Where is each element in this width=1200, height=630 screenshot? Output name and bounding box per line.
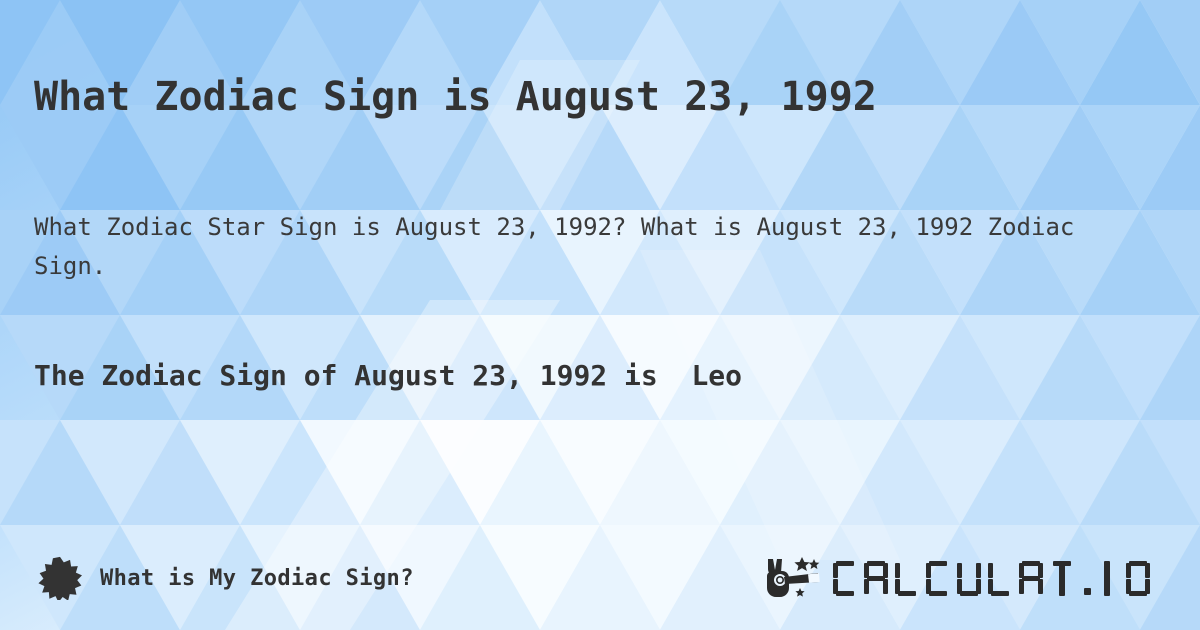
- starburst-icon: [38, 556, 82, 600]
- footer-link-label: What is My Zodiac Sign?: [100, 566, 414, 591]
- zodiac-result-text: The Zodiac Sign of August 23, 1992 is Le…: [34, 356, 1174, 396]
- page-title: What Zodiac Sign is August 23, 1992: [34, 71, 1174, 123]
- footer-link[interactable]: What is My Zodiac Sign?: [38, 548, 414, 608]
- brand-logo[interactable]: [764, 548, 1168, 608]
- page-description: What Zodiac Star Sign is August 23, 1992…: [34, 208, 1102, 286]
- zodiac-result-card: What Zodiac Sign is August 23, 1992 What…: [0, 0, 1200, 630]
- magic-wand-hand-icon: [764, 555, 826, 601]
- footer: What is My Zodiac Sign?: [0, 548, 1200, 608]
- brand-wordmark: [832, 555, 1168, 601]
